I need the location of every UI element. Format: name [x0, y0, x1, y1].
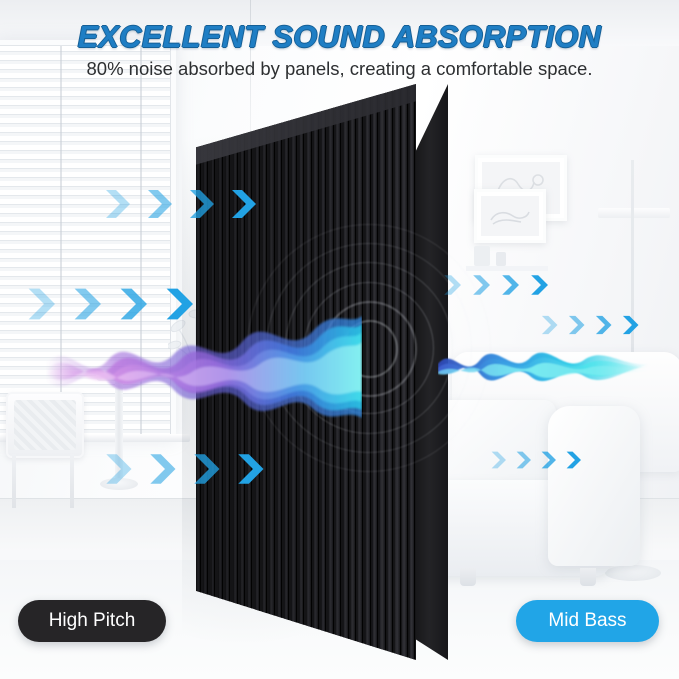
chevron-right-icon — [232, 448, 274, 490]
panel-slat — [255, 84, 260, 660]
panel-slat — [299, 84, 305, 660]
panel-slat — [394, 84, 401, 660]
chair-leg — [12, 454, 16, 508]
chevron-right-icon — [160, 282, 204, 326]
chevron-right-icon — [114, 282, 158, 326]
page-subtitle: 80% noise absorbed by panels, creating a… — [0, 58, 679, 80]
panel-slat — [328, 84, 334, 660]
chevron-right-icon — [619, 312, 645, 338]
chevrons-upper-left — [100, 184, 268, 224]
panel-slat — [218, 84, 223, 660]
chevron-right-icon — [184, 184, 224, 224]
chevrons-far-right — [538, 312, 646, 338]
window-frame — [0, 40, 176, 440]
lamp-shade-left — [96, 372, 142, 381]
chevron-right-icon — [538, 312, 564, 338]
panel-slat — [321, 84, 327, 660]
panel-slat — [313, 84, 319, 660]
panel-slat — [401, 84, 408, 660]
chevron-right-icon — [440, 271, 468, 299]
chevron-right-icon — [538, 448, 562, 472]
chair-back — [6, 392, 84, 458]
chevrons-lower-left — [100, 448, 276, 490]
sofa-foot — [580, 568, 596, 586]
chevrons-mid-left — [22, 282, 206, 326]
panel-slat — [277, 84, 282, 660]
chevrons-panel-right — [440, 271, 556, 299]
panel-slat — [211, 84, 216, 660]
high-pitch-label: High Pitch — [18, 600, 166, 642]
chevron-right-icon — [498, 271, 526, 299]
chevron-right-icon — [100, 448, 142, 490]
panel-slat — [335, 84, 341, 660]
panel-slat — [225, 84, 230, 660]
panel-side-face — [412, 84, 448, 660]
panel-slat — [284, 84, 289, 660]
panel-slat — [247, 84, 252, 660]
chair-leg — [70, 454, 74, 508]
mid-bass-label: Mid Bass — [516, 600, 659, 642]
product-feature-image: EXCELLENT SOUND ABSORPTION 80% noise abs… — [0, 0, 679, 679]
chair-back-pattern — [14, 400, 76, 450]
panel-slat — [357, 84, 363, 660]
chevron-right-icon — [563, 448, 587, 472]
chevron-right-icon — [68, 282, 112, 326]
panel-slat — [291, 84, 297, 660]
chevron-right-icon — [188, 448, 230, 490]
chevron-right-icon — [100, 184, 140, 224]
chevron-right-icon — [144, 448, 186, 490]
chevron-right-icon — [469, 271, 497, 299]
chevrons-sofa — [488, 448, 588, 472]
acoustic-panel — [196, 84, 448, 660]
sofa-foot — [460, 568, 476, 586]
page-title: EXCELLENT SOUND ABSORPTION — [0, 20, 679, 55]
panel-slat — [262, 84, 267, 660]
panel-slat — [409, 84, 416, 660]
panel-slat — [379, 84, 385, 660]
panel-slat — [240, 84, 245, 660]
panel-slat — [306, 84, 312, 660]
panel-slats — [196, 84, 416, 660]
panel-slat — [365, 84, 371, 660]
panel-front-face — [196, 84, 416, 660]
chevron-right-icon — [565, 312, 591, 338]
white-chair — [4, 392, 88, 510]
chevron-right-icon — [513, 448, 537, 472]
chevron-right-icon — [527, 271, 555, 299]
chevron-right-icon — [22, 282, 66, 326]
chevron-right-icon — [488, 448, 512, 472]
chevron-right-icon — [592, 312, 618, 338]
panel-slat — [350, 84, 356, 660]
panel-slat — [343, 84, 349, 660]
panel-slat — [387, 84, 393, 660]
panel-slat — [269, 84, 274, 660]
chevron-right-icon — [142, 184, 182, 224]
chevron-right-icon — [226, 184, 266, 224]
panel-slat — [203, 84, 208, 660]
panel-slat — [233, 84, 238, 660]
panel-slat — [372, 84, 378, 660]
frame-art-small — [487, 202, 533, 230]
window — [0, 40, 176, 440]
panel-slat — [196, 84, 201, 660]
framed-wall-art-small — [474, 189, 546, 243]
floor-lamp-shade — [598, 208, 670, 218]
sofa-arm — [548, 406, 640, 566]
